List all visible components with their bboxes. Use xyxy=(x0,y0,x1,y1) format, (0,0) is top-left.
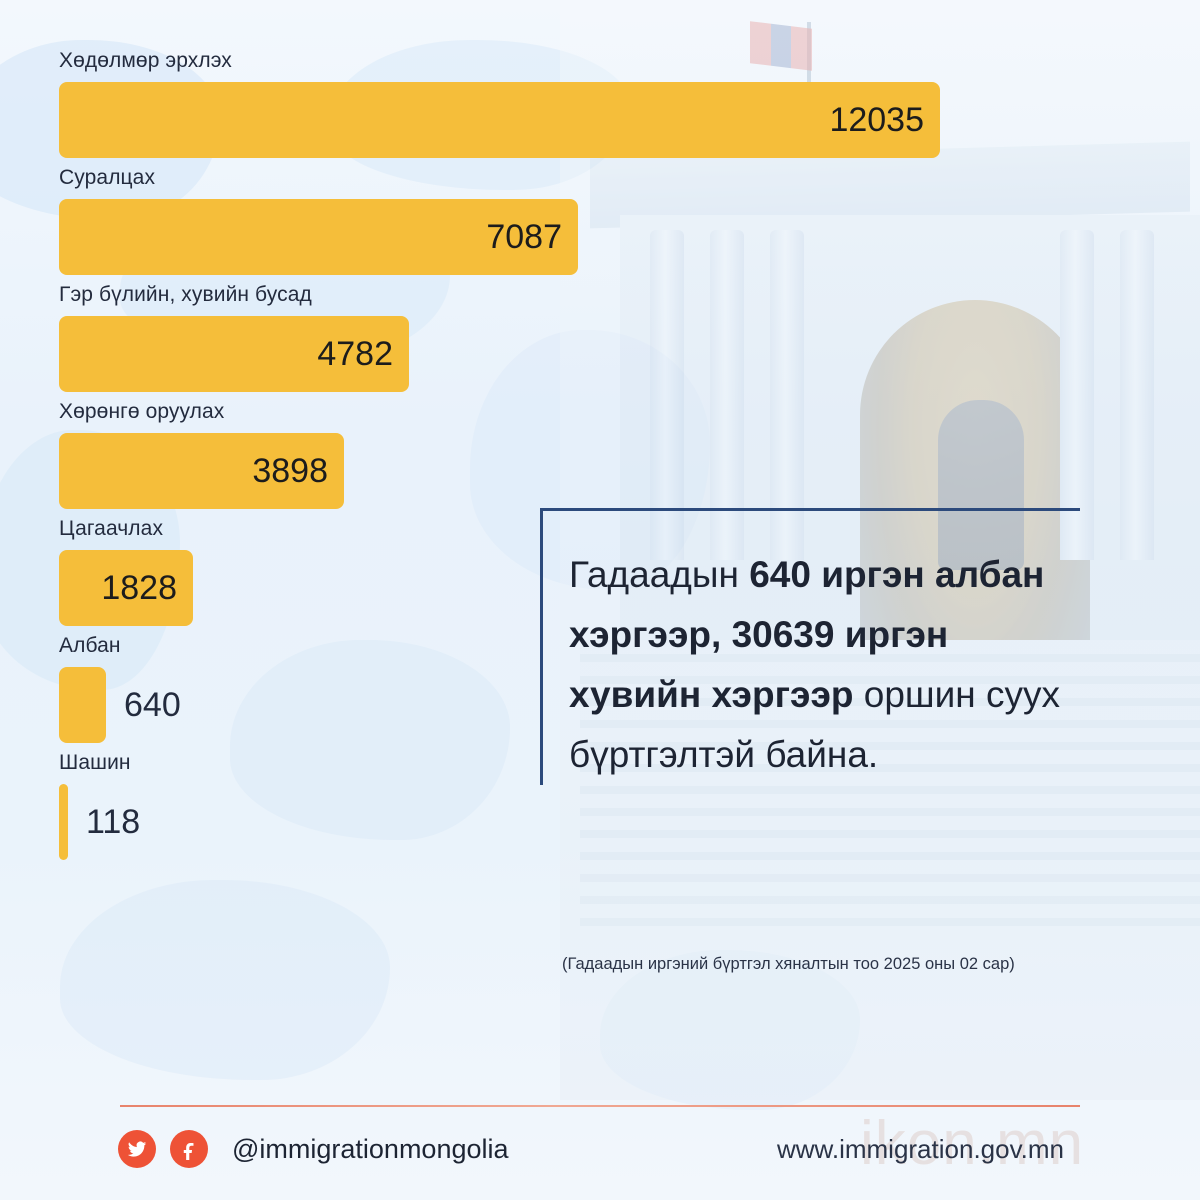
statement-text: Гадаадын 640 иргэн албан хэргээр, 30639 … xyxy=(569,545,1080,785)
bar-value: 4782 xyxy=(317,335,409,374)
bar-fill: 118 xyxy=(59,784,68,860)
bar-label: Суралцах xyxy=(59,167,1019,188)
bar-track: 7087 xyxy=(59,199,1019,275)
website-url[interactable]: www.immigration.gov.mn xyxy=(777,1134,1064,1165)
bar-label: Хөрөнгө оруулах xyxy=(59,401,1019,422)
footer-divider xyxy=(120,1105,1080,1107)
twitter-icon[interactable] xyxy=(118,1130,156,1168)
bar-track: 3898 xyxy=(59,433,1019,509)
bar-value: 640 xyxy=(106,686,181,725)
bar-value: 7087 xyxy=(486,218,578,257)
bar-track: 12035 xyxy=(59,82,1019,158)
bar-fill: 3898 xyxy=(59,433,344,509)
bar-value: 1828 xyxy=(101,569,193,608)
bar-fill: 7087 xyxy=(59,199,578,275)
bar-group: Суралцах7087 xyxy=(59,167,1019,275)
bar-fill: 12035 xyxy=(59,82,940,158)
footer: @immigrationmongolia www.immigration.gov… xyxy=(118,1118,1098,1180)
statement-callout: Гадаадын 640 иргэн албан хэргээр, 30639 … xyxy=(540,508,1080,785)
bar-fill: 1828 xyxy=(59,550,193,626)
infographic-content: Хөдөлмөр эрхлэх12035Суралцах7087Гэр бүли… xyxy=(0,0,1200,1200)
facebook-icon[interactable] xyxy=(170,1130,208,1168)
social-handle[interactable]: @immigrationmongolia xyxy=(232,1134,509,1165)
bar-group: Хөрөнгө оруулах3898 xyxy=(59,401,1019,509)
bar-label: Гэр бүлийн, хувийн бусад xyxy=(59,284,1019,305)
bar-group: Гэр бүлийн, хувийн бусад4782 xyxy=(59,284,1019,392)
bar-value: 12035 xyxy=(829,101,940,140)
bar-group: Хөдөлмөр эрхлэх12035 xyxy=(59,50,1019,158)
bar-track: 118 xyxy=(59,784,1019,860)
bar-value: 118 xyxy=(68,803,140,842)
bar-label: Хөдөлмөр эрхлэх xyxy=(59,50,1019,71)
statement-prefix: Гадаадын xyxy=(569,554,749,595)
bar-track: 4782 xyxy=(59,316,1019,392)
statement-caption: (Гадаадын иргэний бүртгэл хяналтын тоо 2… xyxy=(562,955,1182,974)
bar-value: 3898 xyxy=(252,452,344,491)
bar-fill: 4782 xyxy=(59,316,409,392)
bar-fill: 640 xyxy=(59,667,106,743)
statement-middle xyxy=(721,614,731,655)
